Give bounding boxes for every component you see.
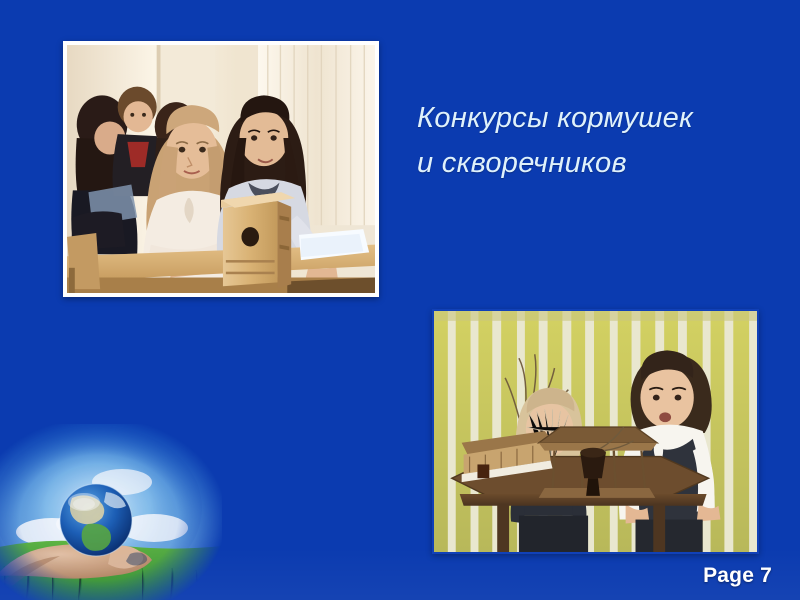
footer-sheen <box>0 548 800 600</box>
globe-in-hand-decoration <box>0 424 222 600</box>
children-feeders-photo <box>432 309 759 554</box>
globe-in-hand-illustration <box>0 424 222 600</box>
classroom-birdhouse-photo <box>63 41 379 297</box>
page-number: Page 7 <box>703 564 772 588</box>
classroom-birdhouse-photo-inner <box>67 45 375 293</box>
classroom-birdhouse-illustration <box>67 45 375 293</box>
children-feeders-photo-inner <box>434 311 757 552</box>
page-title: Конкурсы кормушек и скворечников <box>417 96 787 186</box>
slide-canvas: Конкурсы кормушек и скворечников <box>0 0 800 600</box>
children-feeders-illustration <box>434 311 757 552</box>
title-line-1: Конкурсы кормушек <box>417 96 787 141</box>
title-line-2: и скворечников <box>417 141 787 186</box>
